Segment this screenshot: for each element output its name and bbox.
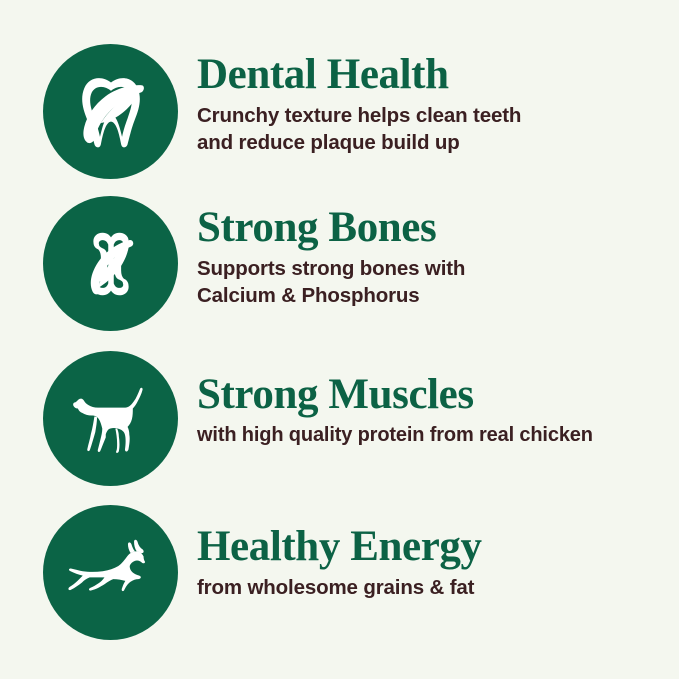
benefit-description-healthy-energy: from wholesome grains & fat [197, 574, 667, 601]
benefit-text-block-strong-bones: Strong Bones Supports strong bones with … [197, 206, 667, 310]
tooth-leaf-icon-badge [43, 44, 178, 179]
bone-leaf-icon [65, 218, 157, 310]
benefit-description-line: Crunchy texture helps clean teeth [197, 102, 667, 129]
benefit-description-strong-bones: Supports strong bones with Calcium & Pho… [197, 255, 667, 310]
benefit-title-strong-muscles: Strong Muscles [197, 373, 667, 416]
benefit-description-strong-muscles: with high quality protein from real chic… [197, 422, 667, 449]
benefit-description-dental-health: Crunchy texture helps clean teeth and re… [197, 102, 667, 157]
benefit-text-block-healthy-energy: Healthy Energy from wholesome grains & f… [197, 525, 667, 601]
benefit-description-line: and reduce plaque build up [197, 129, 667, 156]
standing-dog-icon [63, 371, 159, 467]
benefit-title-strong-bones: Strong Bones [197, 206, 667, 249]
bone-leaf-icon-badge [43, 196, 178, 331]
benefits-panel: Dental Health Crunchy texture helps clea… [0, 0, 679, 679]
benefit-text-block-dental-health: Dental Health Crunchy texture helps clea… [197, 53, 667, 157]
benefit-description-line: with high quality protein from real chic… [197, 422, 667, 449]
leaping-dog-icon [61, 523, 161, 623]
benefit-title-dental-health: Dental Health [197, 53, 667, 96]
leaping-dog-icon-badge [43, 505, 178, 640]
standing-dog-icon-badge [43, 351, 178, 486]
benefit-description-line: Supports strong bones with [197, 255, 667, 282]
benefit-description-line: from wholesome grains & fat [197, 574, 667, 601]
tooth-leaf-icon [65, 66, 157, 158]
benefit-title-healthy-energy: Healthy Energy [197, 525, 667, 568]
benefit-description-line: Calcium & Phosphorus [197, 282, 667, 309]
benefit-text-block-strong-muscles: Strong Muscles with high quality protein… [197, 373, 667, 449]
